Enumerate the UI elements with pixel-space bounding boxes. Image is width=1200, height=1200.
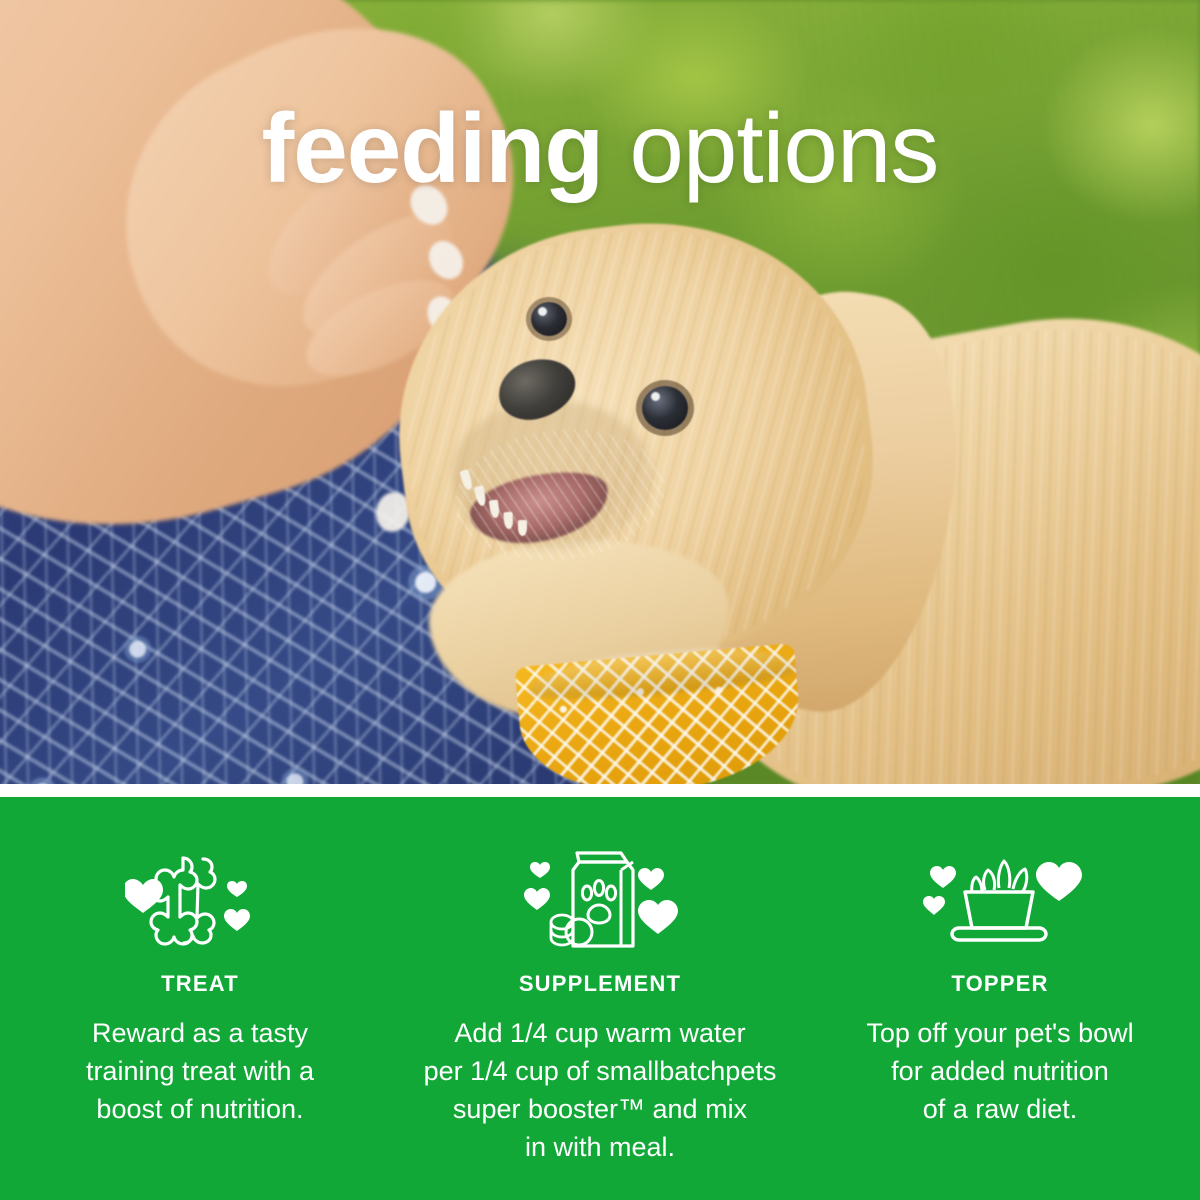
option-body-treat: Reward as a tasty training treat with a … xyxy=(86,1014,314,1128)
option-title-treat: TREAT xyxy=(161,971,239,997)
dog-bone-hearts-icon xyxy=(125,845,275,957)
dog-eye-left xyxy=(531,302,567,336)
option-title-topper: TOPPER xyxy=(951,971,1048,997)
option-title-supplement: SUPPLEMENT xyxy=(519,971,681,997)
feeding-options-infographic: feeding options xyxy=(0,0,1200,1200)
title-word-options: options xyxy=(629,93,938,203)
option-column-topper: TOPPER Top off your pet's bowl for added… xyxy=(800,797,1200,1200)
option-column-supplement: SUPPLEMENT Add 1/4 cup warm water per 1/… xyxy=(400,797,800,1200)
feeding-options-panel: TREAT Reward as a tasty training treat w… xyxy=(0,797,1200,1200)
hero-photo: feeding options xyxy=(0,0,1200,784)
option-column-treat: TREAT Reward as a tasty training treat w… xyxy=(0,797,400,1200)
page-title: feeding options xyxy=(0,96,1200,200)
options-columns: TREAT Reward as a tasty training treat w… xyxy=(0,797,1200,1200)
dog-eye-glint xyxy=(651,392,660,401)
title-word-feeding: feeding xyxy=(262,93,603,203)
option-body-supplement: Add 1/4 cup warm water per 1/4 cup of sm… xyxy=(424,1014,777,1166)
dog-eye-glint xyxy=(538,307,547,316)
food-bowl-hearts-icon xyxy=(915,845,1085,957)
food-bag-paw-hearts-icon xyxy=(515,845,685,957)
dog-eye-right xyxy=(642,386,688,430)
option-body-topper: Top off your pet's bowl for added nutrit… xyxy=(866,1014,1133,1128)
